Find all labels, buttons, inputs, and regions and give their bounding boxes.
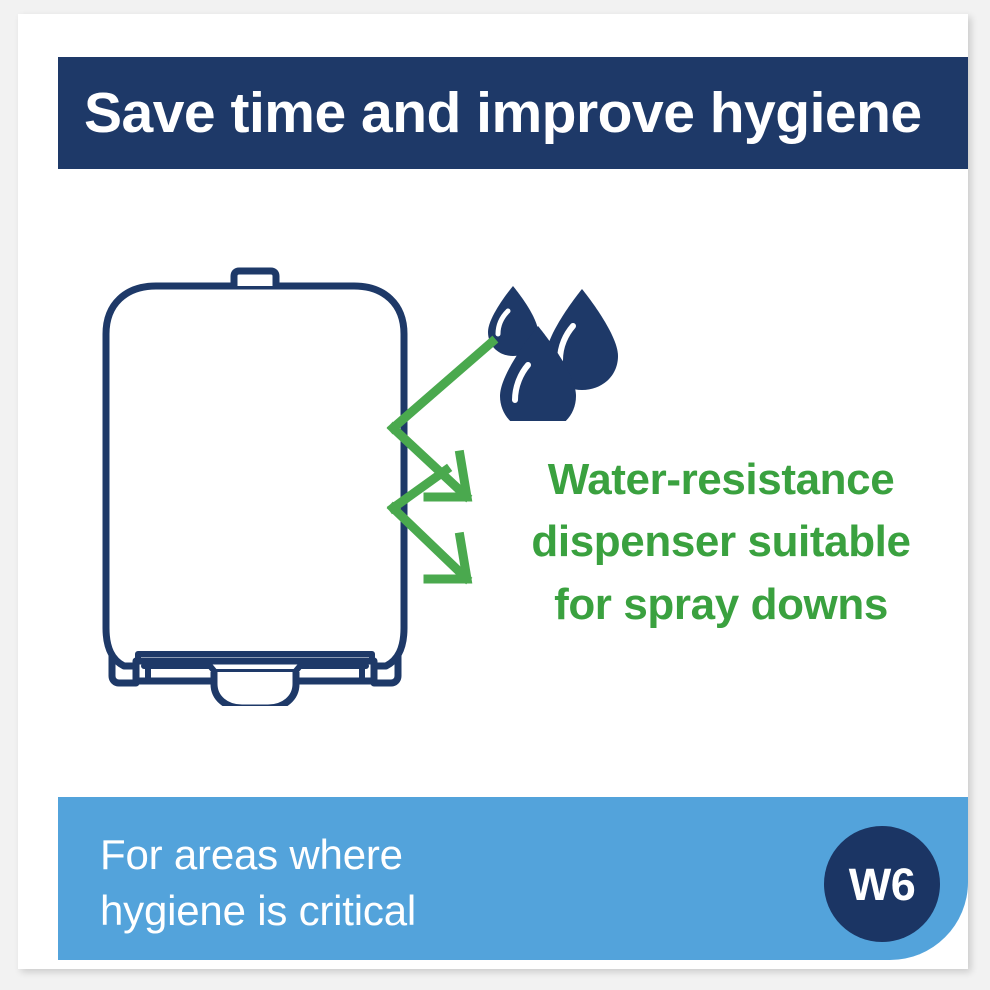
footer-line-2: hygiene is critical <box>100 883 416 939</box>
feature-line-1: Water-resistance <box>486 449 956 511</box>
feature-text: Water-resistance dispenser suitable for … <box>486 449 956 636</box>
feature-line-2: dispenser suitable <box>486 511 956 573</box>
footer-line-1: For areas where <box>100 827 416 883</box>
dispenser-icon <box>90 256 420 711</box>
white-card: Save time and improve hygiene <box>18 14 968 969</box>
page-title: Save time and improve hygiene <box>84 85 922 142</box>
promo-card-page: Save time and improve hygiene <box>0 0 990 990</box>
footer-text: For areas where hygiene is critical <box>100 827 416 940</box>
badge-label: W6 <box>849 862 916 907</box>
header-banner: Save time and improve hygiene <box>58 57 968 169</box>
feature-line-3: for spray downs <box>486 574 956 636</box>
status-badge: W6 <box>824 826 940 942</box>
